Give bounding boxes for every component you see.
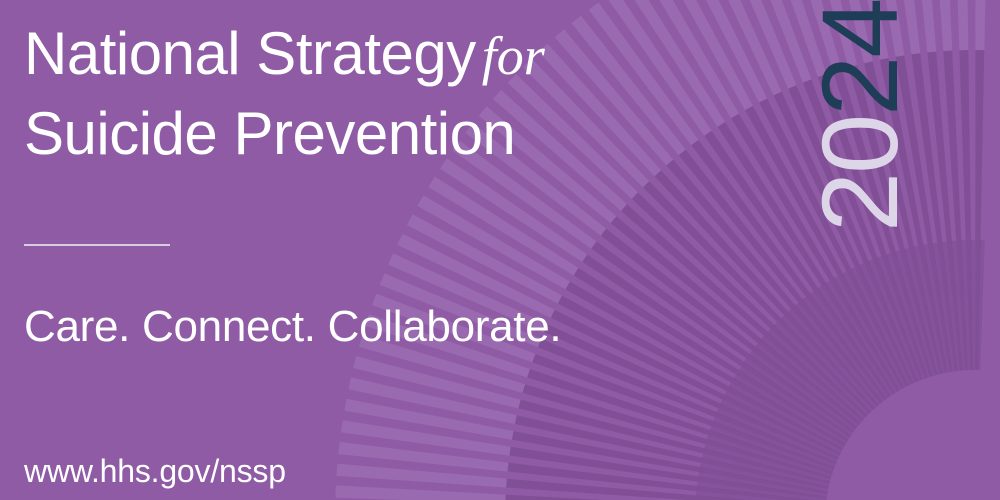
headline-main-text: National Strategy	[24, 20, 476, 87]
year-second-pair: 20	[799, 116, 920, 232]
website-url-link[interactable]: www.hhs.gov/nssp	[24, 455, 286, 487]
banner-content: National Strategyfor Suicide Prevention …	[0, 0, 1000, 500]
headline-line-one: National Strategyfor	[24, 24, 545, 84]
headline-line-two: Suicide Prevention	[24, 104, 515, 164]
tagline: Care. Connect. Collaborate.	[24, 305, 561, 349]
year-first-pair: 24	[799, 0, 920, 116]
divider-rule	[24, 244, 170, 246]
headline-italic-for: for	[476, 26, 545, 86]
nssp-banner: National Strategyfor Suicide Prevention …	[0, 0, 1000, 500]
year-text: 2024	[806, 0, 914, 232]
year-badge: 2024	[806, 232, 884, 500]
